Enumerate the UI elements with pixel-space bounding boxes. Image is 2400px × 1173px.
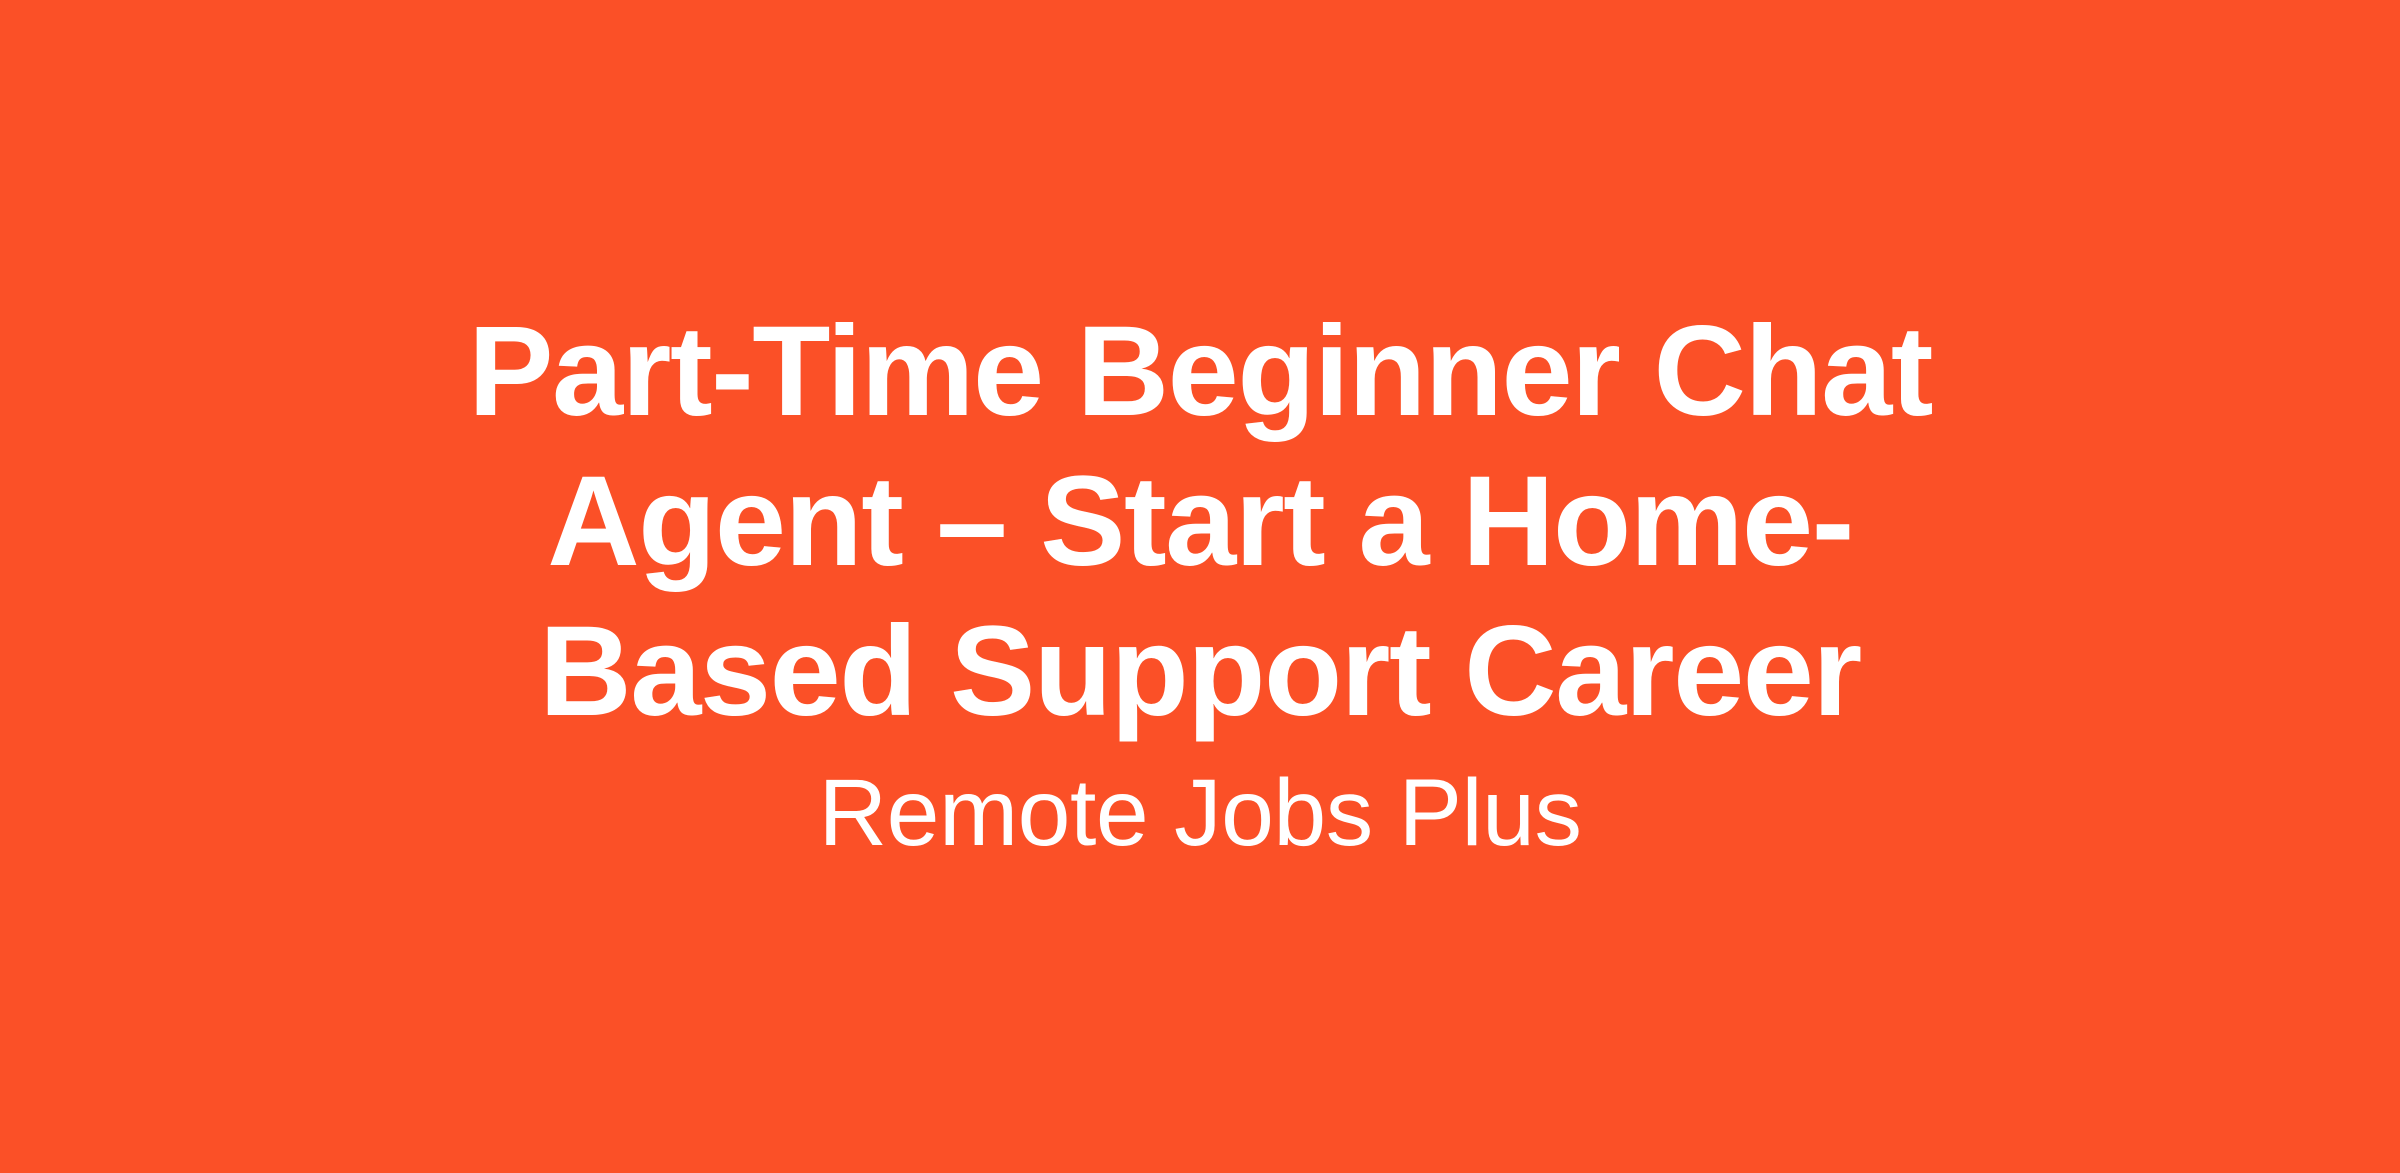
- share-card: Part-Time Beginner Chat Agent – Start a …: [0, 0, 2400, 1173]
- card-text-block: Part-Time Beginner Chat Agent – Start a …: [370, 297, 2030, 869]
- card-subtitle: Remote Jobs Plus: [819, 757, 1582, 869]
- card-title: Part-Time Beginner Chat Agent – Start a …: [420, 297, 1980, 747]
